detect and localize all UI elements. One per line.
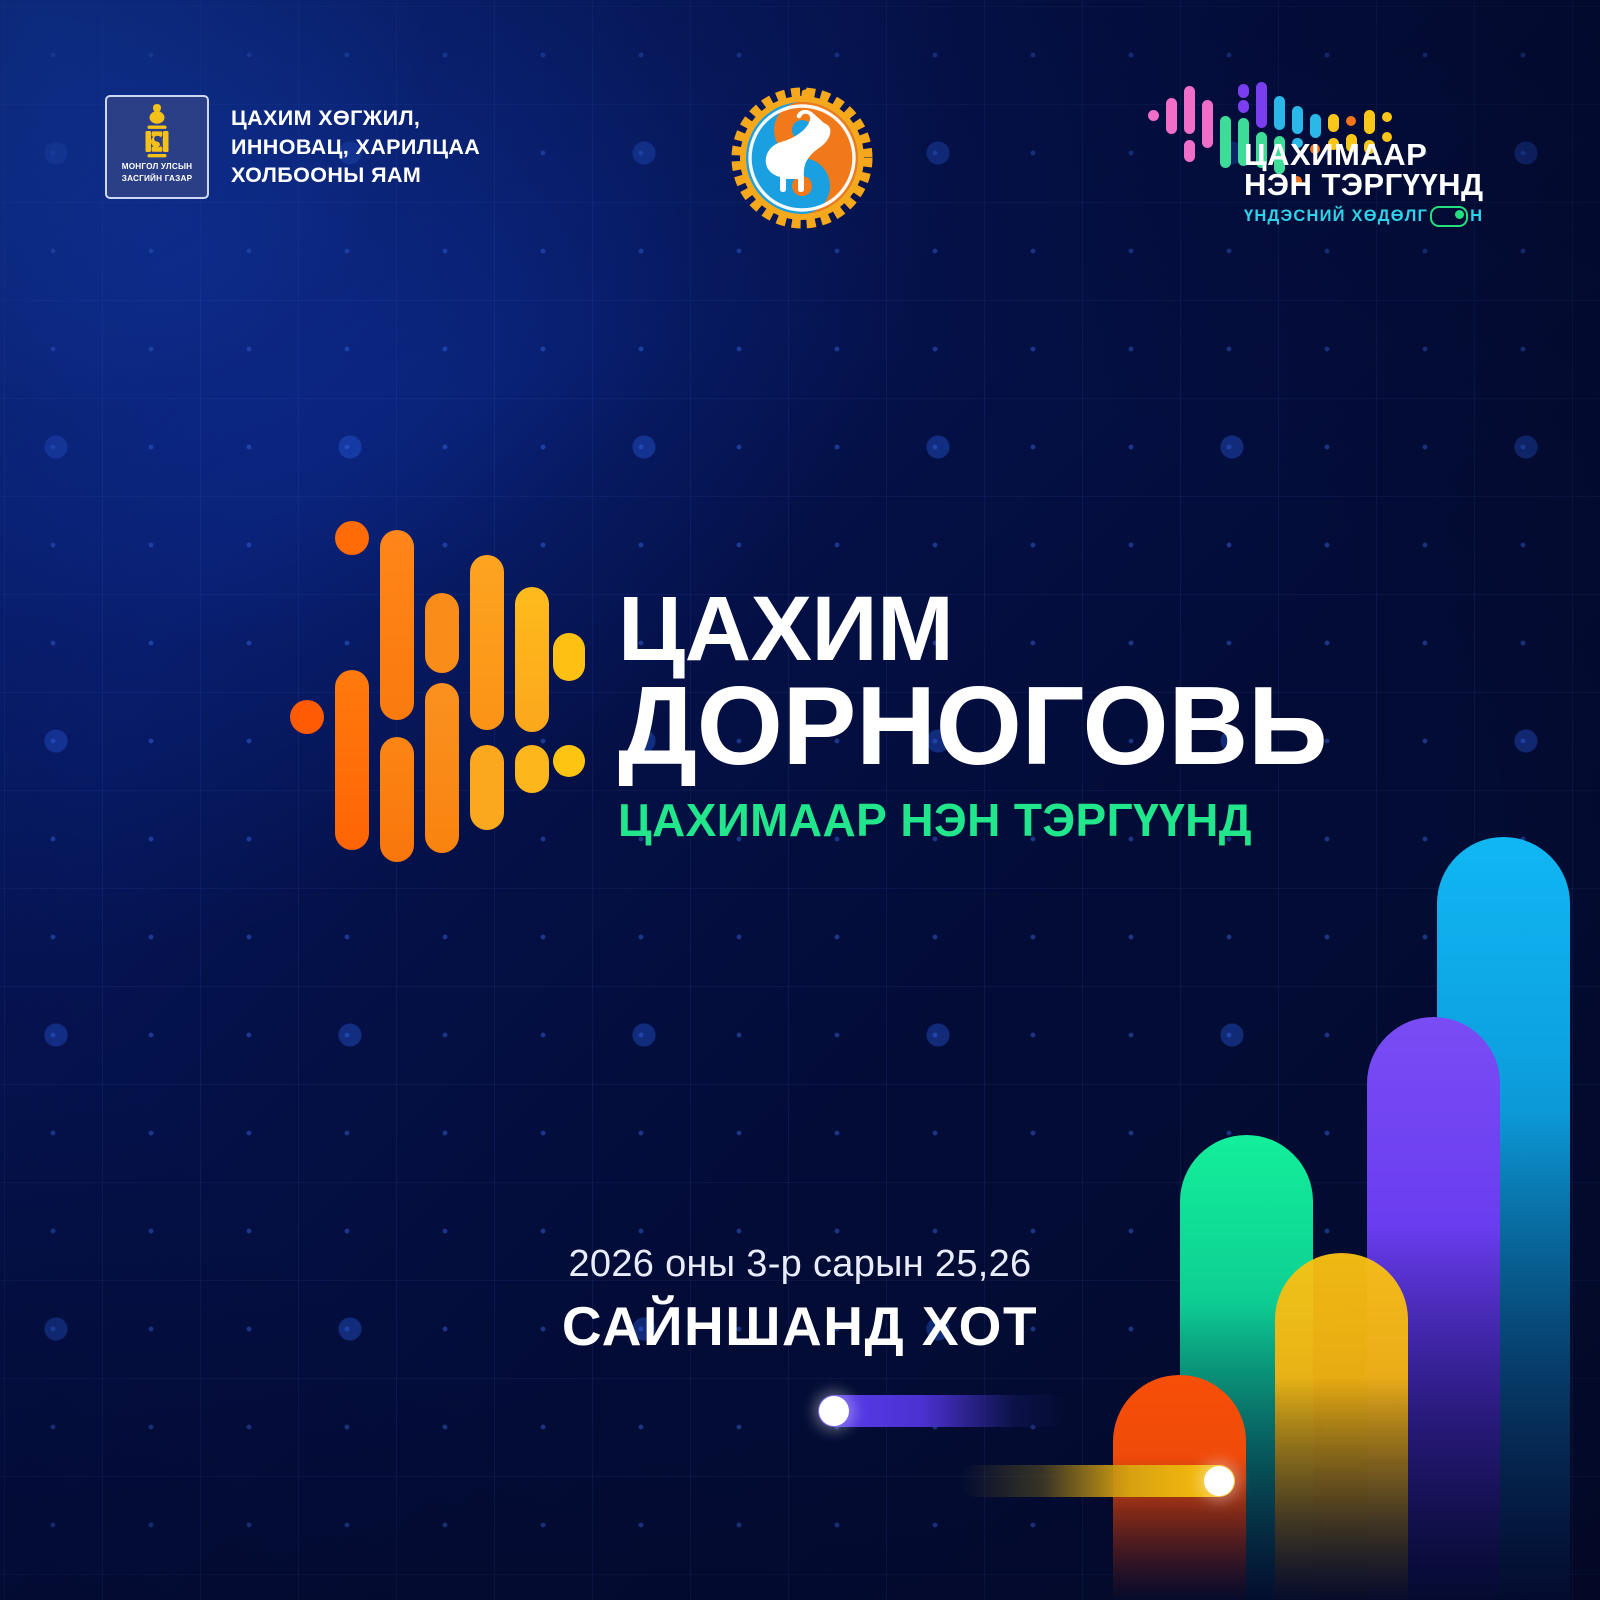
- slider-purple-knob[interactable]: [819, 1396, 849, 1426]
- event-date: 2026 оны 3-р сарын 25,26: [0, 1243, 1600, 1286]
- slider-purple[interactable]: [818, 1395, 1068, 1427]
- event-city: САЙНШАНД ХОТ: [0, 1294, 1600, 1358]
- event-info-block: 2026 оны 3-р сарын 25,26 САЙНШАНД ХОТ: [0, 1243, 1600, 1358]
- slider-yellow-knob[interactable]: [1204, 1466, 1234, 1496]
- slider-yellow[interactable]: [960, 1465, 1235, 1497]
- decorative-bars: [0, 0, 1600, 1600]
- poster-canvas: МОНГОЛ УЛСЫН ЗАСГИЙН ГАЗАР ЦАХИМ ХӨГЖИЛ,…: [0, 0, 1600, 1600]
